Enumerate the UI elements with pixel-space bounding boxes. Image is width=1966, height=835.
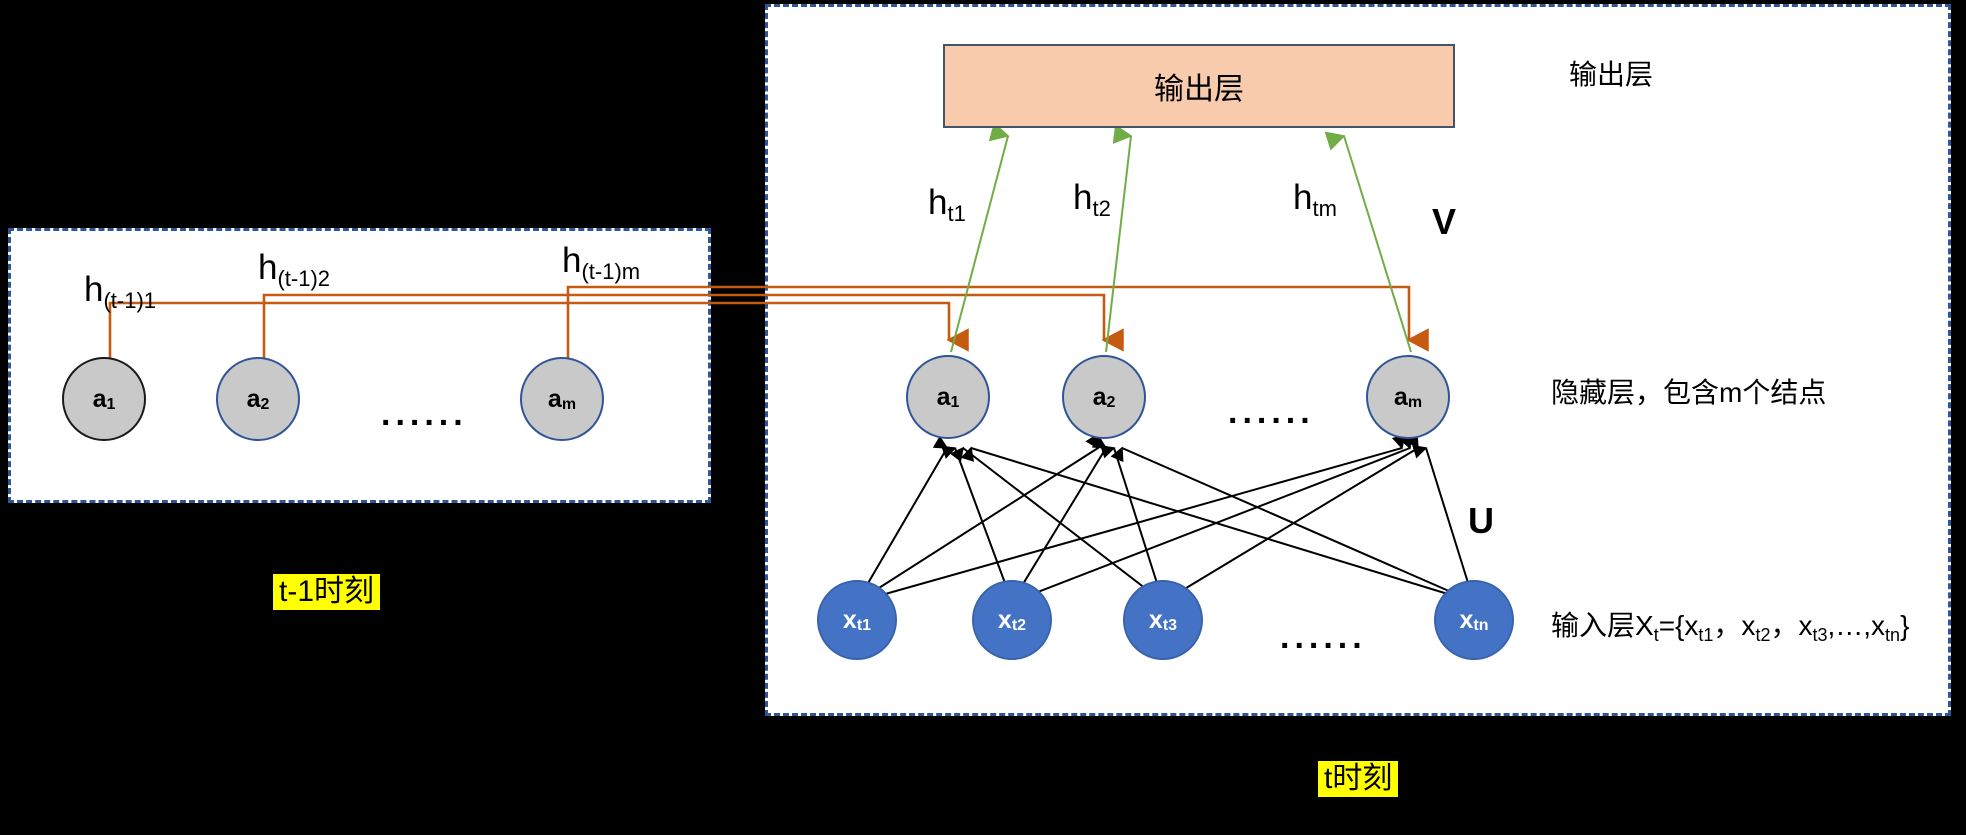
side-label-output-layer: 输出层 <box>1569 60 1653 89</box>
input-node-xtn-sub: tn <box>1473 618 1488 634</box>
curr-time-label: t时刻 <box>1318 761 1398 797</box>
output-arrow-label-2-sub: t2 <box>1092 196 1110 221</box>
side-label-input-layer: 输入层Xt={xt1，xt2，xt3,…,xtn} <box>1551 611 1909 640</box>
output-arrow-label-1-sub: t1 <box>947 201 965 226</box>
input-node-xt1-sub: t1 <box>857 618 871 634</box>
side-label-xt2-sub: t2 <box>1755 625 1770 645</box>
recurrent-label-2-base: h <box>258 248 277 287</box>
prev-hidden-node-a1-base: a <box>93 387 107 412</box>
output-arrow-label-1: ht1 <box>928 185 966 222</box>
recurrent-label-m-sub: (t-1)m <box>581 259 640 284</box>
curr-hidden-node-a2-sub: 2 <box>1107 395 1116 411</box>
side-label-input-layer-sub: t <box>1654 625 1659 645</box>
output-layer-box-label: 输出层 <box>1154 64 1244 108</box>
curr-hidden-node-am-sub: m <box>1408 395 1422 411</box>
prev-hidden-node-a1-sub: 1 <box>107 397 116 413</box>
recurrent-label-m-base: h <box>562 241 581 280</box>
recurrent-label-m: h(t-1)m <box>562 243 640 280</box>
input-node-xt3-base: x <box>1149 608 1163 633</box>
output-arrow-label-2-base: h <box>1073 178 1092 217</box>
curr-hidden-node-a2: a2 <box>1062 355 1146 439</box>
input-node-xtn-base: x <box>1459 608 1473 633</box>
side-label-sep2: ，x <box>1770 610 1812 641</box>
output-arrow-label-m-base: h <box>1293 178 1312 217</box>
prev-hidden-node-a2: a2 <box>216 357 300 441</box>
output-arrow-label-2: ht2 <box>1073 180 1111 217</box>
weight-label-v: V <box>1432 203 1456 241</box>
side-label-hidden-layer: 隐藏层，包含m个结点 <box>1551 378 1826 407</box>
side-label-sep1: ，x <box>1713 610 1755 641</box>
curr-hidden-ellipsis: ...... <box>1228 393 1315 432</box>
prev-hidden-node-a1: a1 <box>62 357 146 441</box>
prev-hidden-node-a2-sub: 2 <box>261 397 270 413</box>
input-node-xt2-base: x <box>998 608 1012 633</box>
prev-hidden-node-am: am <box>520 357 604 441</box>
curr-hidden-node-am-base: a <box>1394 385 1408 410</box>
side-label-xt1-sub: t1 <box>1698 625 1713 645</box>
input-node-xt1-base: x <box>843 608 857 633</box>
side-label-xtn-sub: tn <box>1885 625 1900 645</box>
prev-hidden-node-a2-base: a <box>247 387 261 412</box>
curr-input-ellipsis: ...... <box>1280 618 1367 657</box>
curr-hidden-node-a2-base: a <box>1093 385 1107 410</box>
recurrent-label-2-sub: (t-1)2 <box>277 266 330 291</box>
output-arrow-label-1-base: h <box>928 183 947 222</box>
output-layer-box: 输出层 <box>943 44 1455 128</box>
input-node-xt1: xt1 <box>817 580 897 660</box>
curr-hidden-node-am: am <box>1366 355 1450 439</box>
input-node-xt3-sub: t3 <box>1163 618 1177 634</box>
side-label-xt3-sub: t3 <box>1812 625 1827 645</box>
input-node-xt2: xt2 <box>972 580 1052 660</box>
curr-hidden-node-a1: a1 <box>906 355 990 439</box>
diagram-canvas: 输出层 h(t-1)1 h(t-1)2 h(t-1)m a1 a2 am ...… <box>0 0 1966 835</box>
side-label-sep3: ,…,x <box>1827 610 1885 641</box>
side-label-input-layer-open: ={x <box>1659 610 1699 641</box>
recurrent-label-1: h(t-1)1 <box>84 272 156 309</box>
recurrent-label-1-base: h <box>84 270 103 309</box>
prev-hidden-node-am-sub: m <box>562 397 576 413</box>
input-node-xt2-sub: t2 <box>1012 618 1026 634</box>
curr-hidden-node-a1-base: a <box>937 385 951 410</box>
side-label-input-layer-prefix: 输入层X <box>1551 610 1654 641</box>
output-arrow-label-m-sub: tm <box>1312 196 1336 221</box>
weight-label-u: U <box>1468 502 1494 540</box>
prev-hidden-ellipsis: ...... <box>381 395 468 434</box>
input-node-xt3: xt3 <box>1123 580 1203 660</box>
recurrent-label-1-sub: (t-1)1 <box>103 288 156 313</box>
side-label-close: } <box>1900 610 1909 641</box>
input-node-xtn: xtn <box>1434 580 1514 660</box>
recurrent-label-2: h(t-1)2 <box>258 250 330 287</box>
prev-time-label: t-1时刻 <box>273 574 380 610</box>
prev-hidden-node-am-base: a <box>548 387 562 412</box>
output-arrow-label-m: htm <box>1293 180 1337 217</box>
curr-hidden-node-a1-sub: 1 <box>951 395 960 411</box>
